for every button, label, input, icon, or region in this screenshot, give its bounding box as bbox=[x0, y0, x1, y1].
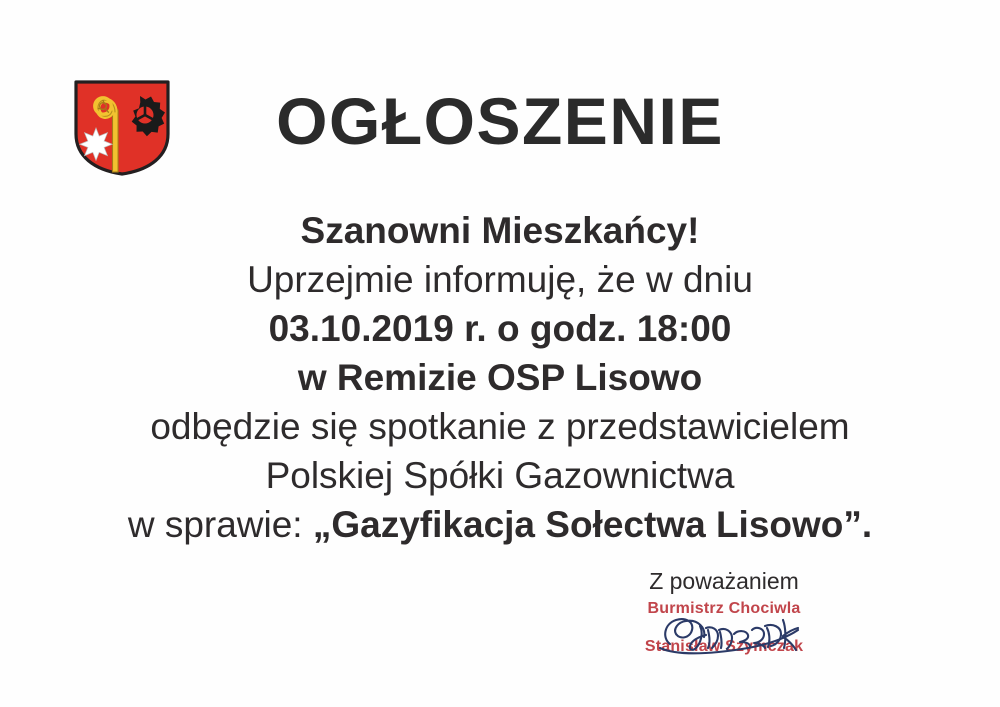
notice-document: OGŁOSZENIE Szanowni Mieszkańcy! Uprzejmi… bbox=[0, 0, 1000, 707]
official-stamp: Burmistrz Chociwla Stanisław Szymczak bbox=[574, 598, 874, 662]
body-line-greeting: Szanowni Mieszkańcy! bbox=[0, 206, 1000, 255]
body-line-company: Polskiej Spółki Gazownictwa bbox=[0, 451, 1000, 500]
stamp-officer-name: Stanisław Szymczak bbox=[574, 636, 874, 657]
subject-quoted: „Gazyfikacja Sołectwa Lisowo”. bbox=[313, 504, 872, 545]
body-line-datetime: 03.10.2019 r. o godz. 18:00 bbox=[0, 304, 1000, 353]
body-line-meeting: odbędzie się spotkanie z przedstawiciele… bbox=[0, 402, 1000, 451]
signature-block: Z poważaniem Burmistrz Chociwla Stanisła… bbox=[574, 566, 874, 662]
body-line-subject: w sprawie: „Gazyfikacja Sołectwa Lisowo”… bbox=[0, 500, 1000, 549]
page-title: OGŁOSZENIE bbox=[0, 88, 1000, 154]
closing-salutation: Z poważaniem bbox=[574, 566, 874, 596]
subject-prefix: w sprawie: bbox=[128, 504, 313, 545]
body-line-venue: w Remizie OSP Lisowo bbox=[0, 353, 1000, 402]
body-line-intro: Uprzejmie informuję, że w dniu bbox=[0, 255, 1000, 304]
stamp-office-title: Burmistrz Chociwla bbox=[574, 598, 874, 619]
announcement-body: Szanowni Mieszkańcy! Uprzejmie informuję… bbox=[0, 206, 1000, 549]
